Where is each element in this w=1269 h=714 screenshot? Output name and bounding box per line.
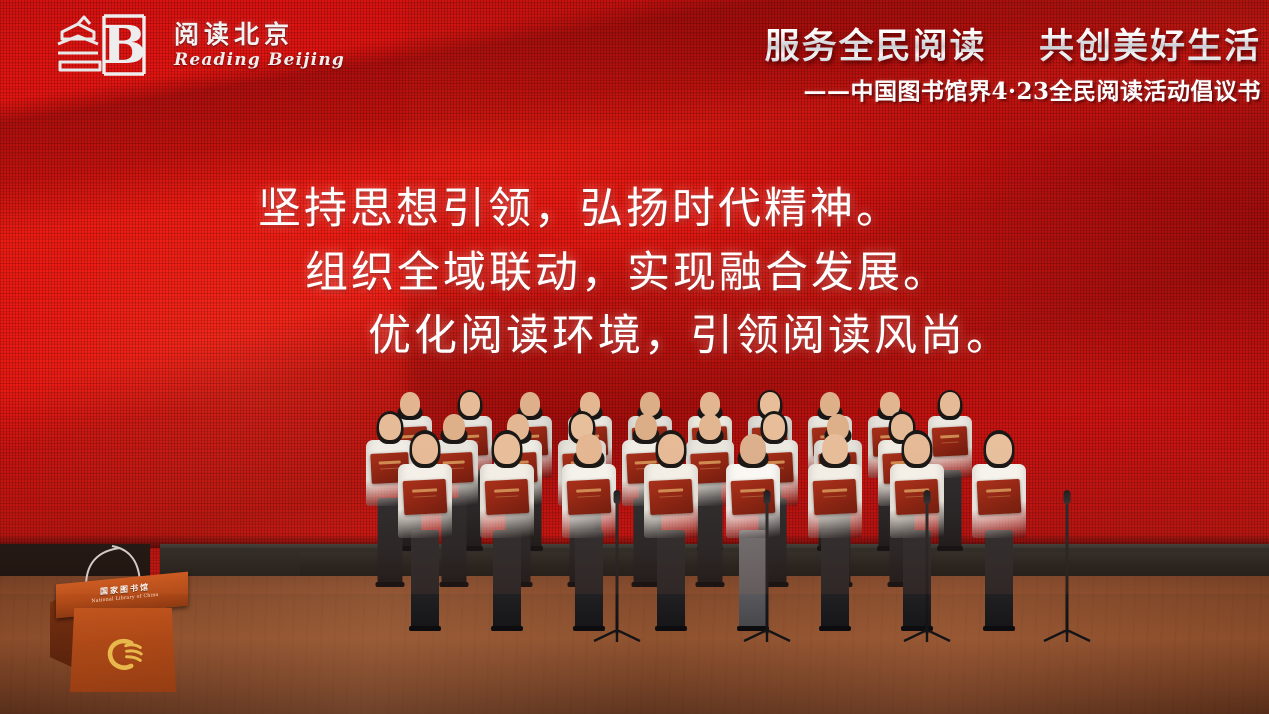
mic-tripod-base (740, 630, 794, 642)
mic-tripod-base (590, 630, 644, 642)
mic-capsule-icon (924, 490, 931, 504)
reading-beijing-emblem-icon: B (48, 8, 160, 82)
member-head (740, 434, 766, 464)
member-shoes (409, 626, 441, 631)
member-head (658, 434, 684, 464)
mic-pole (616, 502, 619, 634)
slogan-subtitle: ——中国图书馆界4·23全民阅读活动倡议书 (765, 72, 1261, 106)
logo-text-cn: 阅读北京 (174, 22, 345, 47)
header-slogan: 服务全民阅读 共创美好生活 ——中国图书馆界4·23全民阅读活动倡议书 (765, 18, 1261, 106)
member-booklet (649, 479, 694, 515)
mic-pole (766, 502, 769, 634)
member-booklet (813, 479, 858, 515)
microphone-stand (1040, 492, 1094, 642)
member-head (940, 392, 960, 416)
choir-member (808, 423, 862, 628)
member-shoes (983, 626, 1015, 631)
member-legs (821, 530, 849, 628)
member-booklet (485, 479, 530, 515)
mic-capsule-icon (614, 490, 621, 504)
microphone-stand (900, 492, 954, 642)
member-head (576, 434, 602, 464)
slogan-part-2: 共创美好生活 (1039, 26, 1261, 67)
event-photo-stage: B 阅读北京 Reading Beijing 服务全民阅读 共创美好生活 ——中… (0, 0, 1269, 714)
member-shoes (819, 626, 851, 631)
member-legs (493, 530, 521, 628)
member-head (412, 434, 438, 464)
choir-group (340, 356, 1130, 656)
podium: 国家图书馆 National Library of China (44, 560, 194, 692)
microphone-stand (740, 492, 794, 642)
microphone-stand (590, 492, 644, 642)
mic-tripod-base (1040, 630, 1094, 642)
mic-capsule-icon (1064, 490, 1071, 504)
member-booklet (977, 479, 1022, 515)
member-head (904, 434, 930, 464)
choir-member (480, 423, 534, 628)
nlc-c-logo-icon (100, 632, 144, 676)
logo-wordmark: 阅读北京 Reading Beijing (174, 22, 345, 69)
pledge-lines: 坚持思想引领，弘扬时代精神。 组织全域联动，实现融合发展。 优化阅读环境，引领阅… (0, 178, 1020, 369)
member-head (699, 414, 721, 440)
mic-pole (926, 502, 929, 634)
member-legs (411, 530, 439, 628)
choir-member (644, 423, 698, 628)
slogan-main-line: 服务全民阅读 共创美好生活 (765, 18, 1261, 69)
svg-text:B: B (102, 15, 146, 76)
member-shoes (696, 582, 725, 587)
member-head (494, 434, 520, 464)
pledge-line-2: 组织全域联动，实现融合发展。 (0, 242, 1020, 306)
member-shoes (491, 626, 523, 631)
choir-member (398, 423, 452, 628)
member-booklet (403, 479, 448, 515)
pledge-line-1: 坚持思想引领，弘扬时代精神。 (0, 178, 1020, 242)
member-legs (985, 530, 1013, 628)
member-head (986, 434, 1012, 464)
member-shoes (655, 626, 687, 631)
mic-tripod-base (900, 630, 954, 642)
logo-text-en: Reading Beijing (174, 52, 345, 69)
mic-pole (1066, 502, 1069, 634)
reading-beijing-logo: B 阅读北京 Reading Beijing (48, 8, 345, 82)
mic-capsule-icon (764, 490, 771, 504)
choir-member (972, 423, 1026, 628)
member-legs (698, 498, 723, 584)
member-head (822, 434, 848, 464)
member-legs (657, 530, 685, 628)
slogan-part-1: 服务全民阅读 (765, 26, 987, 67)
